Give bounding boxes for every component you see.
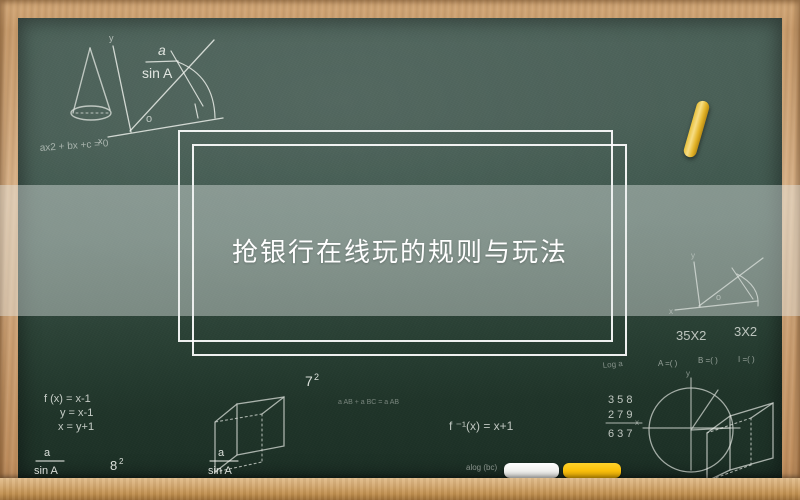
svg-text:x = y+1: x = y+1 bbox=[58, 421, 94, 433]
white-chalk-stick-icon bbox=[504, 463, 559, 478]
svg-text:6 3 7: 6 3 7 bbox=[608, 428, 632, 440]
title-overlay-band: 抢银行在线玩的规则与玩法 bbox=[0, 185, 800, 316]
chalk-fraction-a-over-sinA-topleft: a sin A bbox=[142, 42, 178, 81]
svg-text:sin A: sin A bbox=[142, 65, 173, 81]
chalk-cube-drawing-right bbox=[707, 403, 773, 478]
chalk-cone-drawing bbox=[71, 48, 111, 120]
chalk-fraction-a-over-sinA-bottomcenter: a sin A bbox=[208, 447, 238, 477]
board-bottom-ledge bbox=[0, 478, 800, 500]
svg-text:y = x-1: y = x-1 bbox=[60, 407, 93, 419]
svg-text:sin A: sin A bbox=[34, 465, 59, 477]
chalk-square-eight: 8 2 bbox=[110, 457, 124, 473]
svg-text:A =( ): A =( ) bbox=[658, 359, 678, 368]
chalk-digit-grid: 3 5 8 2 7 9 6 3 7 bbox=[606, 394, 642, 440]
chalk-faint-equation: a AB + a BC = a AB bbox=[338, 399, 399, 406]
svg-text:y: y bbox=[686, 369, 690, 378]
svg-text:a: a bbox=[44, 447, 51, 459]
page-title: 抢银行在线玩的规则与玩法 bbox=[232, 232, 568, 269]
svg-text:3 5 8: 3 5 8 bbox=[608, 394, 632, 406]
chalk-power-seven: 7 2 bbox=[305, 372, 319, 389]
chalk-function-equations: f (x) = x-1 y = x-1 x = y+1 bbox=[44, 393, 94, 433]
wooden-board-frame: a sin A ax2 + bx +c = 0 y x o bbox=[0, 0, 800, 500]
svg-text:B =( ): B =( ) bbox=[698, 356, 718, 365]
svg-text:sin A: sin A bbox=[208, 465, 233, 477]
svg-text:o: o bbox=[146, 113, 152, 125]
svg-text:x: x bbox=[98, 136, 103, 146]
chalk-fraction-a-over-sinA-bottomleft: a sin A bbox=[34, 447, 64, 477]
chalk-inverse-function: f ⁻¹(x) = x+1 bbox=[449, 419, 514, 433]
svg-text:8: 8 bbox=[110, 458, 117, 473]
svg-text:f (x) = x-1: f (x) = x-1 bbox=[44, 393, 91, 405]
svg-text:7: 7 bbox=[305, 373, 313, 389]
svg-text:2 7 9: 2 7 9 bbox=[608, 409, 632, 421]
chalk-log-label: Log a bbox=[602, 359, 623, 370]
chalk-label-3x2: 3X2 bbox=[734, 324, 757, 339]
svg-text:y: y bbox=[109, 33, 114, 43]
yellow-chalk-stick-icon bbox=[563, 463, 621, 478]
chalk-matrix-notation: A =( ) B =( ) I =( ) bbox=[658, 355, 755, 368]
svg-text:2: 2 bbox=[119, 457, 124, 466]
chalk-label-35x2: 35X2 bbox=[676, 328, 706, 343]
svg-text:2: 2 bbox=[314, 372, 319, 382]
svg-text:a: a bbox=[158, 42, 166, 58]
svg-text:I =( ): I =( ) bbox=[738, 355, 755, 364]
chalk-alog-label: alog (bc) bbox=[466, 463, 497, 472]
svg-text:f ⁻¹(x) = x+1: f ⁻¹(x) = x+1 bbox=[449, 419, 514, 433]
svg-text:a: a bbox=[218, 447, 225, 459]
